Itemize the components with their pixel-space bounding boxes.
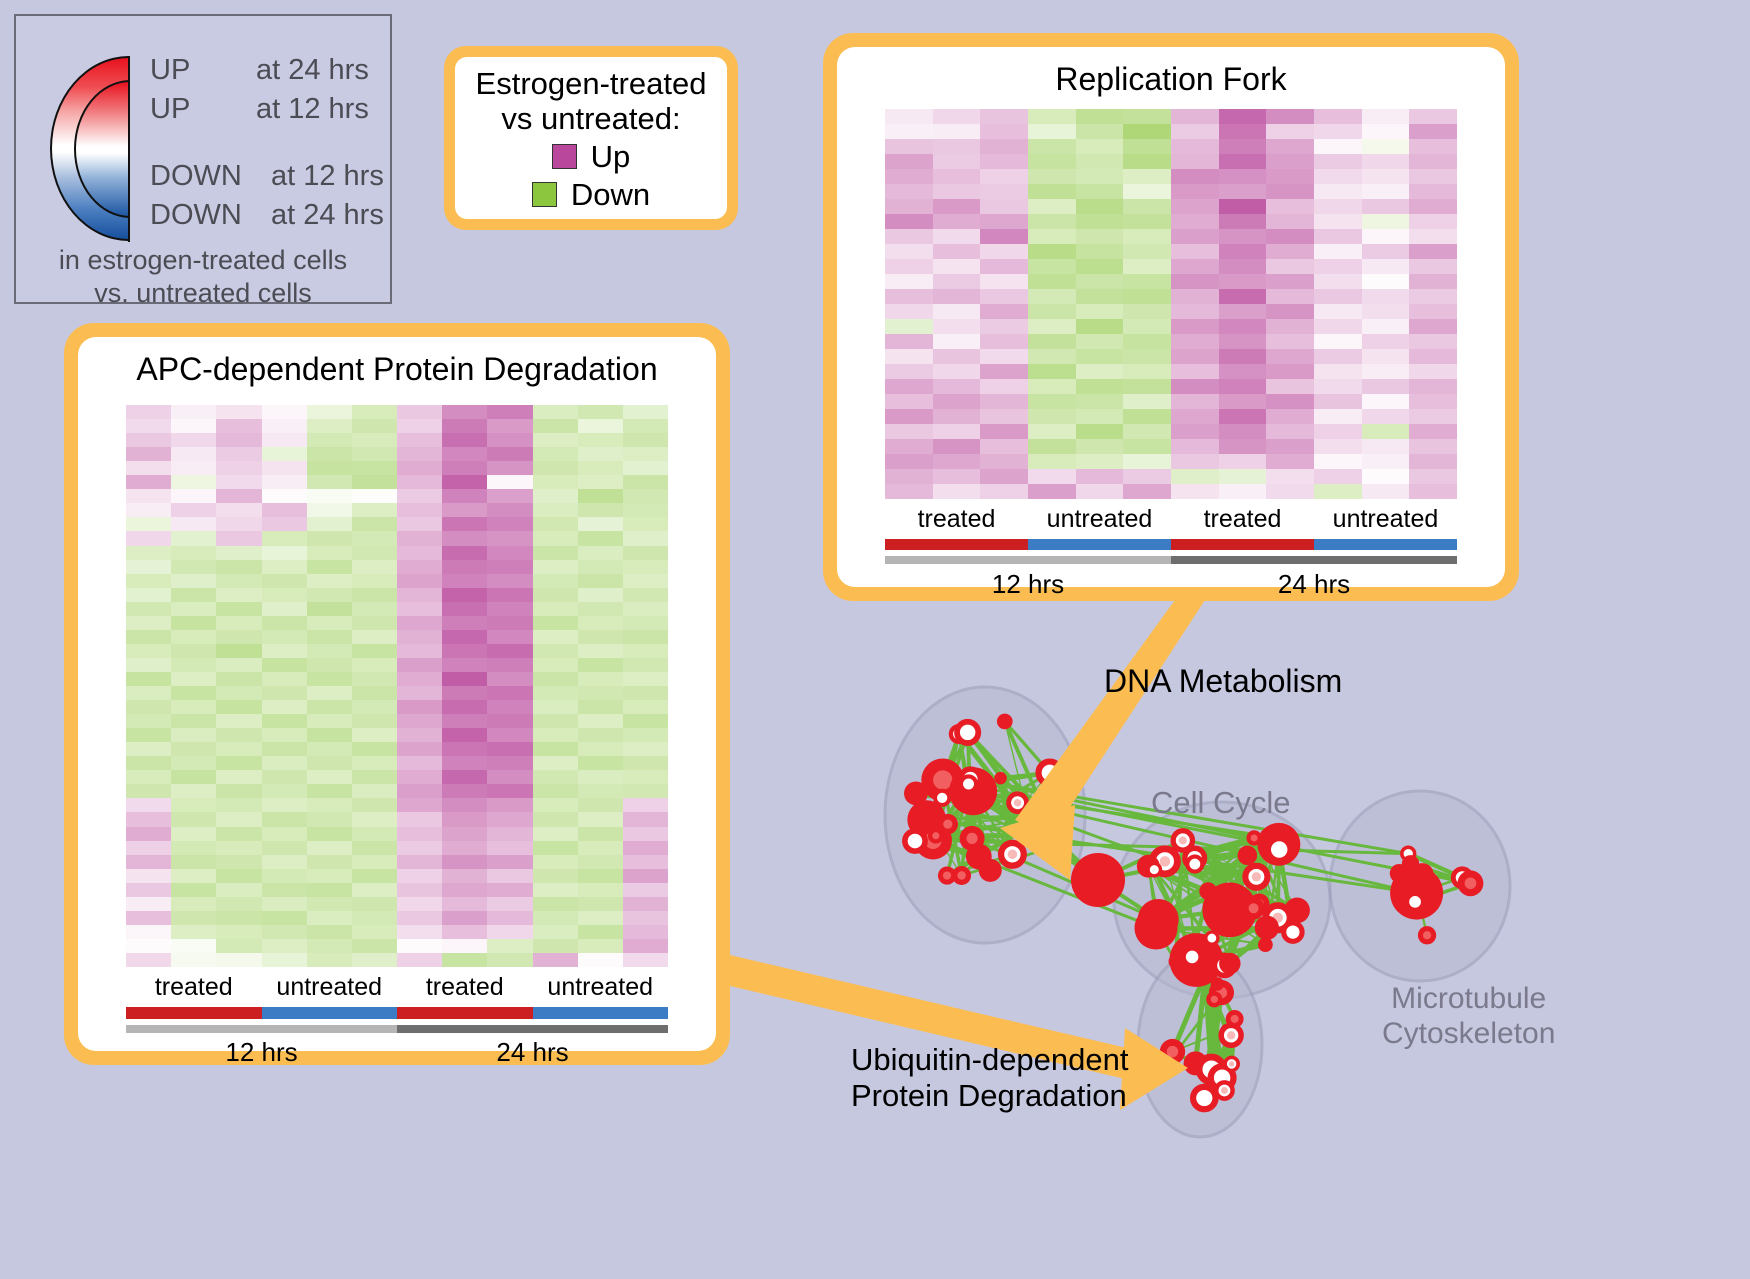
heatmap-cell (1028, 259, 1076, 274)
heatmap-cell (171, 714, 216, 728)
network-edge (1148, 866, 1156, 928)
heatmap-cell (171, 630, 216, 644)
network-edge (933, 773, 1050, 841)
heatmap-cell (307, 714, 352, 728)
network-edge (936, 824, 1029, 836)
heatmap-cell (126, 489, 171, 503)
heatmap-cell (487, 953, 532, 967)
heatmap-cell (442, 644, 487, 658)
heatmap-cell (1219, 439, 1267, 454)
heatmap-cell (442, 602, 487, 616)
heatmap-cell (1123, 154, 1171, 169)
heatmap-cell (623, 489, 668, 503)
heatmap-cell (1123, 244, 1171, 259)
network-edge (1001, 778, 1047, 815)
network-edge (1154, 870, 1293, 932)
heatmap-cell (1028, 484, 1076, 499)
heatmap-cell (578, 855, 623, 869)
network-edge (962, 773, 1050, 876)
heatmap-cell (487, 503, 532, 517)
heatmap-cell (1171, 349, 1219, 364)
group-color-bar (126, 1007, 262, 1019)
network-edge (933, 841, 1156, 928)
network-edge (1415, 874, 1422, 902)
heatmap-cell (1266, 454, 1314, 469)
panel-title-replication-fork: Replication Fork (837, 61, 1505, 98)
heatmap-cell (307, 489, 352, 503)
group-label: treated (126, 973, 262, 1003)
heatmap-cell (1362, 319, 1410, 334)
heatmap-cell (623, 841, 668, 855)
heatmap-cell (307, 560, 352, 574)
heatmap-cell (578, 784, 623, 798)
heatmap-cell (216, 742, 261, 756)
network-edge (1214, 993, 1221, 1000)
heatmap-cell (980, 139, 1028, 154)
network-edge (1172, 1030, 1226, 1051)
heatmap-cell (307, 630, 352, 644)
network-edge (1005, 721, 1050, 772)
heatmap-cell (307, 517, 352, 531)
network-edge (1259, 836, 1267, 903)
heatmap-cell (397, 588, 442, 602)
network-node (949, 767, 997, 815)
heatmap-cell (1123, 454, 1171, 469)
heatmap-cell (262, 841, 307, 855)
heatmap-cell (126, 517, 171, 531)
heatmap-cell (533, 925, 578, 939)
heatmap-cell (1409, 199, 1457, 214)
network-node-core (1249, 903, 1259, 913)
panel-title-apc: APC-dependent Protein Degradation (78, 351, 716, 388)
heatmap-cell (126, 447, 171, 461)
heatmap-cell (1362, 484, 1410, 499)
heatmap-cell (1219, 244, 1267, 259)
network-edge (943, 780, 962, 876)
network-edge (968, 732, 1001, 778)
heatmap-cell (623, 672, 668, 686)
heatmap-cell (1219, 124, 1267, 139)
heatmap-cell (885, 169, 933, 184)
heatmap-cell (126, 616, 171, 630)
network-edge (1254, 838, 1293, 932)
heatmap-cell (1028, 409, 1076, 424)
heatmap-cell (533, 630, 578, 644)
heatmap-cell (307, 672, 352, 686)
heatmap-cell (126, 672, 171, 686)
heatmap-cell (1409, 454, 1457, 469)
group-bars-replication-fork (885, 539, 1457, 550)
heatmap-cell (262, 517, 307, 531)
network-edge (1183, 840, 1257, 876)
heatmap-cell (171, 602, 216, 616)
heatmap-cell (307, 503, 352, 517)
heatmap-cell (262, 461, 307, 475)
heatmap-cell (980, 394, 1028, 409)
network-node-core (943, 820, 952, 829)
heatmap-cell (980, 244, 1028, 259)
heatmap-cell (126, 911, 171, 925)
heatmap-cell (352, 686, 397, 700)
network-node-core (1423, 931, 1431, 939)
heatmap-cell (352, 658, 397, 672)
cluster-label-microtubule: Microtubule Cytoskeleton (1382, 982, 1555, 1051)
network-node-core (1224, 1027, 1230, 1033)
network-edge (1165, 861, 1195, 864)
heatmap-cell (397, 672, 442, 686)
network-edge (1195, 864, 1257, 877)
heatmap-cell (1219, 289, 1267, 304)
heatmap-cell (1266, 394, 1314, 409)
heatmap-cell (307, 798, 352, 812)
network-node (935, 791, 949, 805)
network-edge (1172, 1052, 1222, 1078)
network-edge (1399, 873, 1462, 877)
network-edge (1033, 834, 1057, 845)
network-node-core (1216, 987, 1227, 998)
network-edge (1148, 866, 1208, 891)
heatmap-cell (980, 289, 1028, 304)
heatmap-cell (623, 574, 668, 588)
network-edge (959, 734, 969, 784)
heatmap-cell (1076, 184, 1124, 199)
network-edge (1208, 836, 1267, 891)
network-node (1249, 894, 1269, 914)
network-node (1211, 1066, 1234, 1089)
network-edge (1259, 904, 1278, 918)
heatmap-cell (533, 560, 578, 574)
network-edge (1267, 836, 1279, 849)
heatmap-cell (980, 229, 1028, 244)
heatmap-cell (352, 770, 397, 784)
network-edge (1399, 864, 1410, 874)
heatmap-cell (1028, 469, 1076, 484)
heatmap-cell (397, 770, 442, 784)
heatmap-cell (1028, 364, 1076, 379)
heatmap-cell (262, 546, 307, 560)
network-edge (933, 824, 948, 840)
heatmap-cell (533, 405, 578, 419)
heatmap-cell (352, 812, 397, 826)
heatmap-cell (1076, 214, 1124, 229)
heatmap-cell (885, 199, 933, 214)
heatmap-cell (442, 433, 487, 447)
network-edge (1212, 855, 1247, 938)
network-node (1255, 916, 1279, 940)
network-edge (1156, 919, 1158, 927)
network-edge (1408, 854, 1462, 878)
heatmap-cell (623, 742, 668, 756)
heatmap-cell (1076, 109, 1124, 124)
heatmap-cell (126, 841, 171, 855)
heatmap-cell (1171, 394, 1219, 409)
heatmap-cell (126, 475, 171, 489)
heatmap-cell (578, 841, 623, 855)
heatmap-cell (352, 531, 397, 545)
network-edge (1183, 840, 1297, 910)
heatmap-cell (1314, 184, 1362, 199)
heatmap-cell (397, 419, 442, 433)
heatmap-cell (1028, 454, 1076, 469)
heatmap-cell (578, 658, 623, 672)
network-node-core (966, 833, 977, 844)
network-node (1225, 1057, 1238, 1070)
updown-color-legend: Estrogen-treated vs untreated: Up Down (444, 46, 738, 230)
network-node (1184, 1051, 1208, 1075)
cluster-label-dna-metabolism: DNA Metabolism (1104, 663, 1342, 700)
heatmap-cell (216, 644, 261, 658)
heatmap-cell (126, 405, 171, 419)
heatmap-cell (533, 672, 578, 686)
group-label: treated (397, 973, 533, 1003)
network-edge (969, 784, 1013, 854)
network-edge (1195, 855, 1248, 864)
heatmap-cell (397, 602, 442, 616)
heatmap-cell (1123, 364, 1171, 379)
heatmap-cell (126, 939, 171, 953)
heatmap-cell (578, 714, 623, 728)
heatmap-cell (1409, 259, 1457, 274)
heatmap-cell (533, 756, 578, 770)
heatmap-cell (1314, 214, 1362, 229)
heatmap-cell (623, 644, 668, 658)
heatmap-cell (307, 939, 352, 953)
network-edge (1158, 877, 1256, 920)
group-label: untreated (1314, 505, 1457, 535)
heatmap-cell (397, 714, 442, 728)
network-edge (948, 824, 979, 856)
heatmap-cell (126, 714, 171, 728)
heatmap-cell (933, 304, 981, 319)
network-edge (1221, 993, 1234, 1019)
network-edge (1408, 854, 1422, 875)
network-edge (1158, 850, 1279, 920)
heatmap-cell (623, 531, 668, 545)
network-node-core (1028, 830, 1037, 839)
network-node (1242, 897, 1264, 919)
heatmap-cell (1266, 154, 1314, 169)
heatmap-cell (397, 812, 442, 826)
network-node (921, 759, 964, 802)
heatmap-cell (623, 784, 668, 798)
heatmap-cell (578, 574, 623, 588)
heatmap-cell (578, 546, 623, 560)
heatmap-cell (578, 827, 623, 841)
heatmap-cell (623, 911, 668, 925)
heatmap-cell (933, 334, 981, 349)
heatmap-cell (307, 447, 352, 461)
heatmap-cell (307, 883, 352, 897)
heatmap-cell (1171, 109, 1219, 124)
heatmap-cell (1314, 169, 1362, 184)
heatmap-cell (442, 630, 487, 644)
network-edge (1158, 855, 1247, 919)
heatmap-cell (307, 546, 352, 560)
heatmap-cell (216, 630, 261, 644)
heatmap-cell (397, 686, 442, 700)
heatmap-cell (1076, 364, 1124, 379)
heatmap-cell (487, 756, 532, 770)
heatmap-cell (352, 405, 397, 419)
heatmap-cell (1362, 184, 1410, 199)
heatmap-cell (885, 409, 933, 424)
heatmap-cell (1409, 214, 1457, 229)
network-edge (1163, 993, 1222, 1070)
heatmap-cell (623, 700, 668, 714)
network-edge (1230, 908, 1254, 910)
heatmap-cell (1171, 244, 1219, 259)
heatmap-cell (533, 531, 578, 545)
heatmap-cell (1314, 454, 1362, 469)
network-edge (1205, 975, 1221, 993)
heatmap-cell (1123, 124, 1171, 139)
heatmap-cell (397, 728, 442, 742)
network-edge (1001, 778, 1013, 854)
heatmap-cell (1409, 349, 1457, 364)
heatmap-cell (397, 756, 442, 770)
network-node-core (1289, 928, 1297, 936)
network-edge (1208, 891, 1271, 913)
heatmap-cell (216, 616, 261, 630)
heatmap-cell (1076, 259, 1124, 274)
heatmap-cell (1314, 394, 1362, 409)
network-edge (1154, 870, 1212, 938)
network-node (938, 866, 956, 884)
heatmap-cell (1076, 304, 1124, 319)
heatmap-cell (1123, 409, 1171, 424)
heatmap-cell (623, 686, 668, 700)
heatmap-cell (171, 686, 216, 700)
legend-footer-line1: in estrogen-treated cells (16, 244, 390, 277)
heatmap-cell (578, 475, 623, 489)
network-edge (973, 791, 979, 856)
time-color-bar (126, 1025, 397, 1033)
network-edge (1158, 910, 1230, 920)
network-edge (1205, 975, 1214, 999)
heatmap-cell (442, 588, 487, 602)
heatmap-cell (352, 883, 397, 897)
heatmap-cell (933, 349, 981, 364)
heatmap-cell (262, 588, 307, 602)
network-edge (1205, 975, 1217, 984)
network-node (952, 866, 971, 885)
heatmap-cell (171, 574, 216, 588)
time-bars-replication-fork (885, 556, 1457, 564)
heatmap-cell (307, 686, 352, 700)
heatmap-cell (623, 503, 668, 517)
heatmap-cell (1219, 409, 1267, 424)
network-edge (959, 734, 972, 838)
heatmap-cell (262, 953, 307, 967)
heatmap-cell (307, 784, 352, 798)
heatmap-cell (126, 869, 171, 883)
heatmap-cell (885, 124, 933, 139)
heatmap-cell (1314, 199, 1362, 214)
network-node (1137, 855, 1160, 878)
heatmap-cell (487, 855, 532, 869)
heatmap-cell (623, 728, 668, 742)
heatmap-cell (262, 503, 307, 517)
network-node (1152, 849, 1177, 874)
legend-when-up-24: at 24 hrs (256, 54, 369, 87)
network-edge (1211, 1069, 1224, 1090)
heatmap-cell (623, 405, 668, 419)
network-node (1211, 977, 1224, 990)
heatmap-cell (262, 630, 307, 644)
network-node-core (1179, 836, 1187, 844)
heatmap-cell (126, 461, 171, 475)
heatmap-cell (980, 379, 1028, 394)
heatmap-cell (216, 461, 261, 475)
network-edge (990, 815, 1046, 870)
heatmap-cell (397, 433, 442, 447)
heatmap-cell (1362, 454, 1410, 469)
time-bars-apc (126, 1025, 668, 1033)
network-edge (1158, 836, 1267, 919)
arrow-head-apc (1120, 1028, 1188, 1110)
heatmap-cell (397, 517, 442, 531)
heatmap-cell (933, 214, 981, 229)
heatmap-cell (1314, 484, 1362, 499)
network-edge (968, 732, 1057, 845)
network-edge (1208, 891, 1259, 904)
network-edge (1176, 840, 1183, 961)
network-edge (962, 779, 971, 876)
network-edge (1222, 1078, 1224, 1091)
network-node (960, 769, 980, 789)
heatmap-cell (533, 616, 578, 630)
heatmap-cell (307, 616, 352, 630)
heatmap-cell (307, 419, 352, 433)
heatmap-cell (352, 700, 397, 714)
arrow-head-replication-fork (1000, 805, 1075, 880)
heatmap-cell (307, 742, 352, 756)
network-node (994, 772, 1007, 785)
network-edge (1005, 721, 1033, 834)
network-edge (959, 734, 1029, 824)
time-color-bar (885, 556, 1171, 564)
heatmap-cell (533, 503, 578, 517)
network-edge (1208, 891, 1230, 963)
heatmap-cell (578, 686, 623, 700)
network-node (928, 828, 944, 844)
heatmap-cell (171, 616, 216, 630)
heatmap-cell (1123, 469, 1171, 484)
heatmap-cell (623, 602, 668, 616)
network-node (1199, 1057, 1224, 1082)
heatmap-cell (1266, 469, 1314, 484)
heatmap-cell (307, 869, 352, 883)
time-color-bar (1171, 556, 1457, 564)
heatmap-cell (1314, 334, 1362, 349)
heatmap-cell (216, 855, 261, 869)
network-node (951, 726, 967, 742)
heatmap-cell (1028, 379, 1076, 394)
heatmap-cell (578, 728, 623, 742)
heatmap-cell (1314, 364, 1362, 379)
network-edge (1232, 1019, 1235, 1064)
heatmap-cell (1314, 259, 1362, 274)
heatmap-cell (262, 911, 307, 925)
heatmap-cell (1171, 409, 1219, 424)
heatmap-cell (1076, 154, 1124, 169)
network-node (1266, 906, 1290, 930)
heatmap-cell (1362, 379, 1410, 394)
heatmap-cell (533, 419, 578, 433)
heatmap-cell (1076, 334, 1124, 349)
heatmap-cell (1314, 154, 1362, 169)
network-node-core (939, 795, 945, 801)
